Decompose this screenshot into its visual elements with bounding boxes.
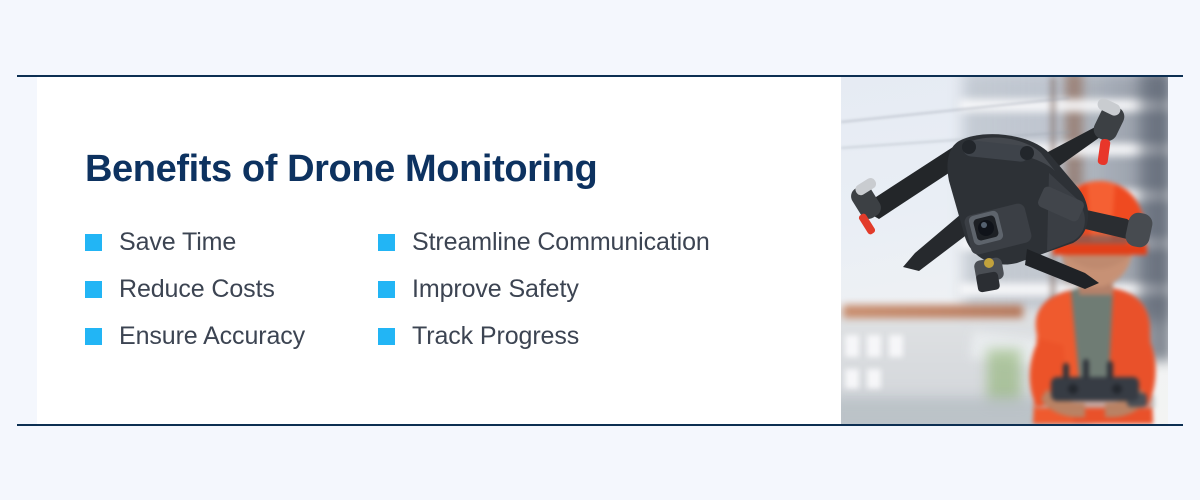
list-item[interactable]: Reduce Costs (85, 266, 305, 313)
bottom-divider-rule (17, 424, 1183, 426)
square-bullet-icon (378, 234, 395, 251)
page-title: Benefits of Drone Monitoring (85, 148, 597, 191)
square-bullet-icon (378, 328, 395, 345)
square-bullet-icon (378, 281, 395, 298)
benefits-banner: Benefits of Drone Monitoring Save Time R… (0, 0, 1200, 500)
benefit-label: Streamline Communication (412, 228, 710, 257)
landing-foot (976, 271, 1001, 293)
led-marker-rear-right (1097, 138, 1111, 165)
sensor-lens (984, 258, 994, 268)
square-bullet-icon (85, 234, 102, 251)
benefits-column-left: Save Time Reduce Costs Ensure Accuracy (85, 219, 305, 360)
benefit-label: Improve Safety (412, 275, 579, 304)
top-barrel-cap (962, 140, 976, 154)
benefit-label: Track Progress (412, 322, 579, 351)
top-barrel-cap (1020, 146, 1034, 160)
list-item[interactable]: Track Progress (378, 313, 710, 360)
lower-strut-right (1025, 249, 1099, 289)
list-item[interactable]: Save Time (85, 219, 305, 266)
benefits-column-right: Streamline Communication Improve Safety … (378, 219, 710, 360)
list-item[interactable]: Ensure Accuracy (85, 313, 305, 360)
benefit-label: Reduce Costs (119, 275, 275, 304)
square-bullet-icon (85, 281, 102, 298)
list-item[interactable]: Improve Safety (378, 266, 710, 313)
quadcopter-drone (841, 77, 1168, 424)
top-divider-rule (17, 75, 1183, 77)
benefit-label: Ensure Accuracy (119, 322, 305, 351)
drone-photo (841, 77, 1168, 424)
list-item[interactable]: Streamline Communication (378, 219, 710, 266)
benefit-label: Save Time (119, 228, 236, 257)
motor-front-right (1124, 211, 1155, 249)
square-bullet-icon (85, 328, 102, 345)
